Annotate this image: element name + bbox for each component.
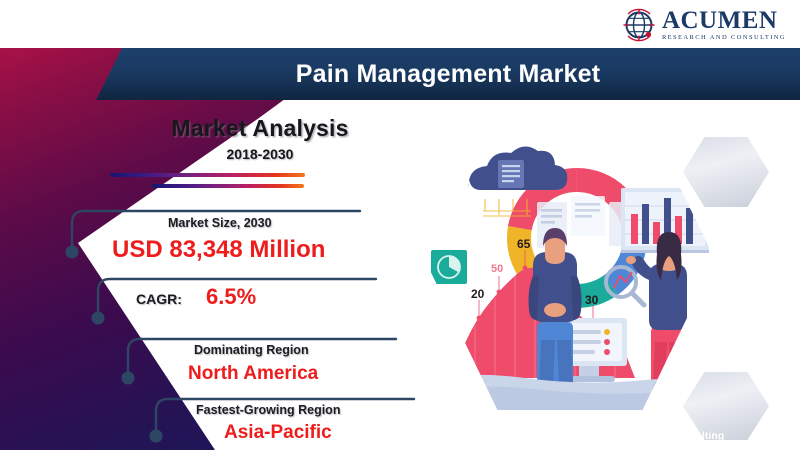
svg-text:20: 20	[471, 287, 485, 301]
page-title: Pain Management Market	[96, 48, 800, 100]
svg-text:65: 65	[517, 237, 531, 251]
logo-tagline: RESEARCH AND CONSULTING	[662, 35, 786, 42]
gradient-rule-secondary	[152, 184, 304, 188]
globe-icon	[621, 7, 657, 43]
pie-chart-icon	[431, 250, 467, 284]
source-attribution: Source: Acumen Research and Consulting	[508, 430, 724, 442]
infographic-canvas: 10 20 50 65 45 30	[0, 0, 800, 450]
gradient-rule-primary	[110, 173, 305, 177]
panel-period: 2018-2030	[110, 146, 410, 162]
data-analysis-illustration: 10 20 50 65 45 30	[425, 110, 715, 410]
row-value-fastest-growing-region: Asia-Pacific	[224, 422, 332, 444]
row-value-dominating-region: North America	[188, 363, 318, 385]
row-value-market-size: USD 83,348 Million	[112, 236, 325, 264]
logo-name: ACUMEN	[662, 8, 786, 33]
panel-heading: Market Analysis	[110, 115, 410, 142]
row-label-fastest-growing-region: Fastest-Growing Region	[196, 403, 340, 417]
svg-text:50: 50	[491, 263, 503, 275]
acumen-logo: ACUMEN RESEARCH AND CONSULTING	[621, 4, 786, 46]
row-label-cagr: CAGR:	[136, 291, 182, 307]
row-label-market-size: Market Size, 2030	[168, 216, 272, 230]
row-value-cagr: 6.5%	[206, 284, 256, 310]
svg-text:30: 30	[585, 293, 599, 307]
row-label-dominating-region: Dominating Region	[194, 343, 309, 357]
svg-text:10: 10	[443, 337, 455, 349]
